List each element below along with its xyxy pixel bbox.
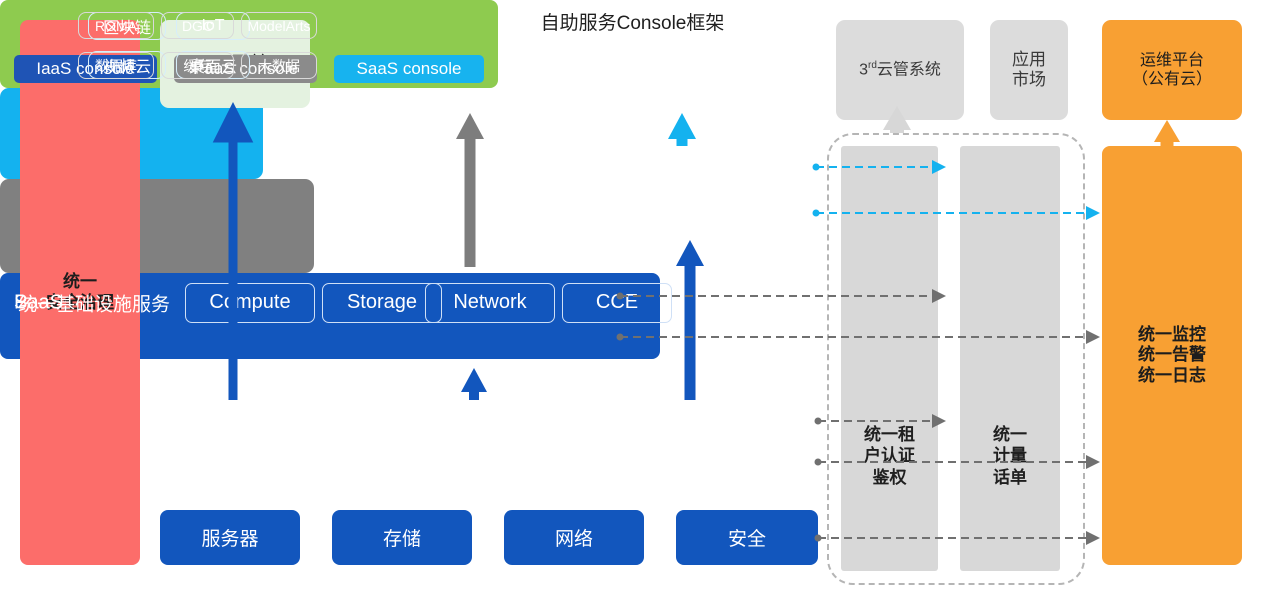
unified-monitoring-line2: 统一告警	[1138, 345, 1206, 365]
arrow-saas-to-console	[668, 113, 696, 146]
unified-metering-label: 统一 计量 话单	[960, 424, 1060, 488]
unified-monitoring-line3: 统一日志	[1138, 366, 1206, 386]
infra-chip-compute[interactable]: Compute	[185, 283, 315, 323]
arrow-ops-column-to-ops-platform	[1154, 120, 1180, 146]
saas-console-label: SaaS console	[357, 59, 462, 79]
unified-monitoring-line1: 统一监控	[1138, 325, 1206, 345]
third-party-cloud-management-box[interactable]: 3rd云管系统	[836, 20, 964, 120]
infra-chip-network[interactable]: Network	[425, 283, 555, 323]
arrow-infra-to-saas	[676, 240, 704, 400]
architecture-diagram: 统一 安全治理 API网关 自助服务Console框架 IaaS console…	[0, 0, 1265, 605]
arrow-paas-to-console	[456, 113, 484, 267]
ops-platform-line1: 运维平台	[1132, 51, 1212, 70]
paas-chip-dgc[interactable]: DGC	[161, 12, 234, 39]
unified-monitoring-panel[interactable]: 统一监控 统一告警 统一日志	[1102, 146, 1242, 565]
infra-chip-cce[interactable]: CCE	[562, 283, 672, 323]
paas-chip-bigdata[interactable]: 大数据	[241, 52, 317, 79]
ops-platform-line2: （公有云）	[1132, 70, 1212, 89]
unified-infrastructure-label: 统一基础设施服务	[18, 289, 170, 316]
resource-box-network[interactable]: 网络	[504, 510, 644, 565]
paas-chip-modelarts[interactable]: ModelArts	[241, 12, 317, 39]
resource-box-security[interactable]: 安全	[676, 510, 818, 565]
unified-tenant-auth-label: 统一租 户认证 鉴权	[841, 424, 938, 488]
paas-chip-cache[interactable]: 缓存	[161, 52, 234, 79]
unified-tenant-auth-column[interactable]: 统一租 户认证 鉴权	[841, 146, 938, 571]
third-party-cloud-label: 3rd云管系统	[859, 60, 941, 80]
app-market-line2: 市场	[1012, 70, 1046, 90]
unified-metering-column[interactable]: 统一 计量 话单	[960, 146, 1060, 571]
ops-platform-public-cloud-box[interactable]: 运维平台 （公有云）	[1102, 20, 1242, 120]
app-market-box[interactable]: 应用 市场	[990, 20, 1068, 120]
app-market-line1: 应用	[1012, 50, 1046, 70]
paas-chip-database[interactable]: 数据库	[78, 52, 154, 79]
arrow-infra-to-paas	[461, 368, 487, 400]
infra-chip-storage[interactable]: Storage	[322, 283, 442, 323]
resource-box-server[interactable]: 服务器	[160, 510, 300, 565]
resource-box-storage[interactable]: 存储	[332, 510, 472, 565]
paas-chip-roma[interactable]: ROMA	[78, 12, 154, 39]
saas-console-chip[interactable]: SaaS console	[334, 55, 484, 83]
